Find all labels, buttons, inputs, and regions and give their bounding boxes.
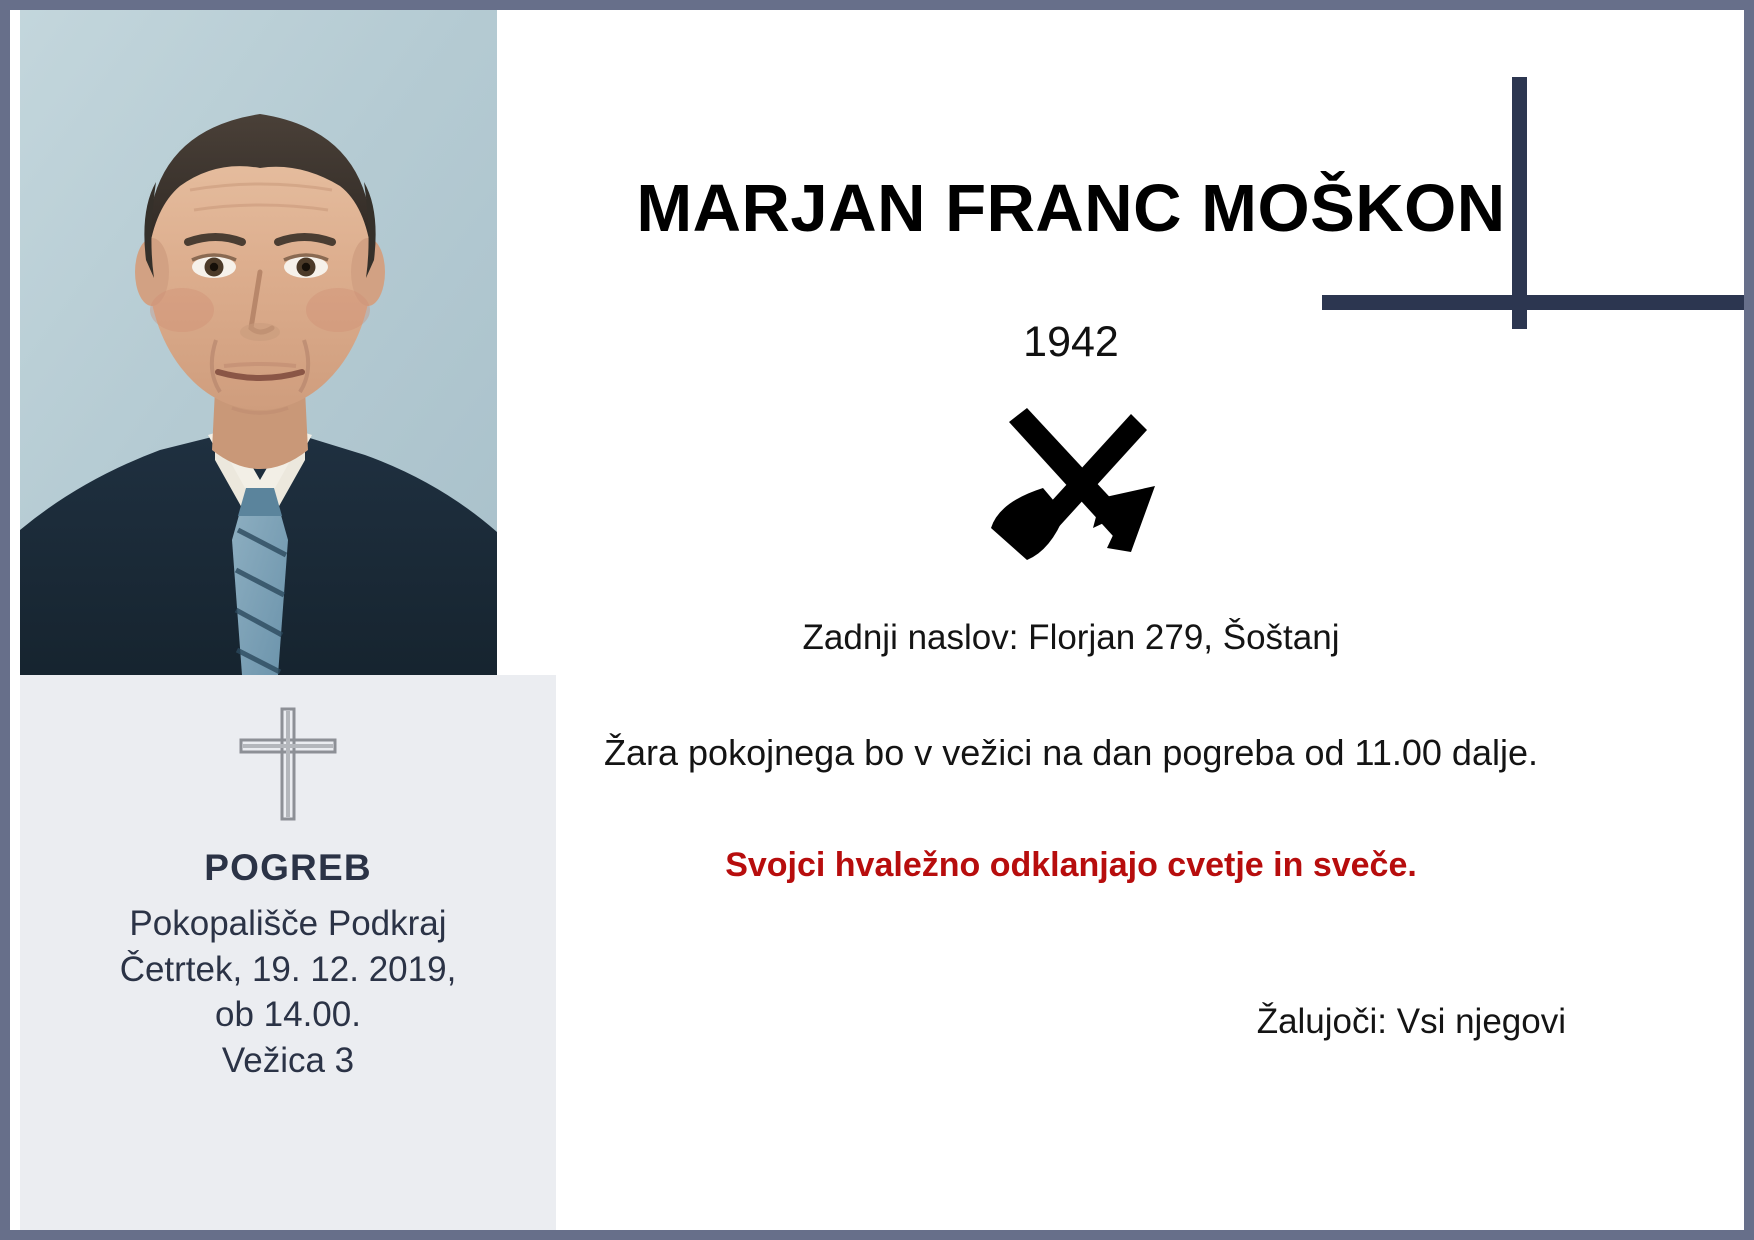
last-address: Zadnji naslov: Florjan 279, Šoštanj (556, 618, 1586, 658)
deceased-name: MARJAN FRANC MOŠKON (556, 170, 1586, 247)
urn-notice: Žara pokojnega bo v vežici na dan pogreb… (566, 728, 1576, 778)
birth-year: 1942 (556, 318, 1586, 367)
obituary-notice-card: POGREB Pokopališče Podkraj Četrtek, 19. … (0, 0, 1754, 1240)
latin-cross-icon (223, 699, 353, 829)
mourners-line: Žalujoči: Vsi njegovi (556, 1002, 1566, 1042)
funeral-detail-lines: Pokopališče Podkraj Četrtek, 19. 12. 201… (120, 901, 457, 1083)
left-column: POGREB Pokopališče Podkraj Četrtek, 19. … (20, 10, 556, 1240)
funeral-details-panel: POGREB Pokopališče Podkraj Četrtek, 19. … (20, 675, 556, 1240)
funeral-cemetery: Pokopališče Podkraj (120, 901, 457, 947)
navy-cross-horizontal-bar (1322, 295, 1754, 310)
right-column: MARJAN FRANC MOŠKON 1942 Zadnji naslov: … (556, 20, 1734, 1220)
funeral-chapel: Vežica 3 (120, 1038, 457, 1084)
deceased-portrait-photo (20, 10, 497, 675)
funeral-heading: POGREB (204, 847, 372, 889)
flowers-notice: Svojci hvaležno odklanjajo cvetje in sve… (556, 846, 1586, 885)
funeral-date: Četrtek, 19. 12. 2019, (120, 947, 457, 993)
crossed-hammer-and-pick-icon (981, 402, 1161, 567)
navy-cross-vertical-bar (1512, 77, 1527, 329)
funeral-time: ob 14.00. (120, 992, 457, 1038)
